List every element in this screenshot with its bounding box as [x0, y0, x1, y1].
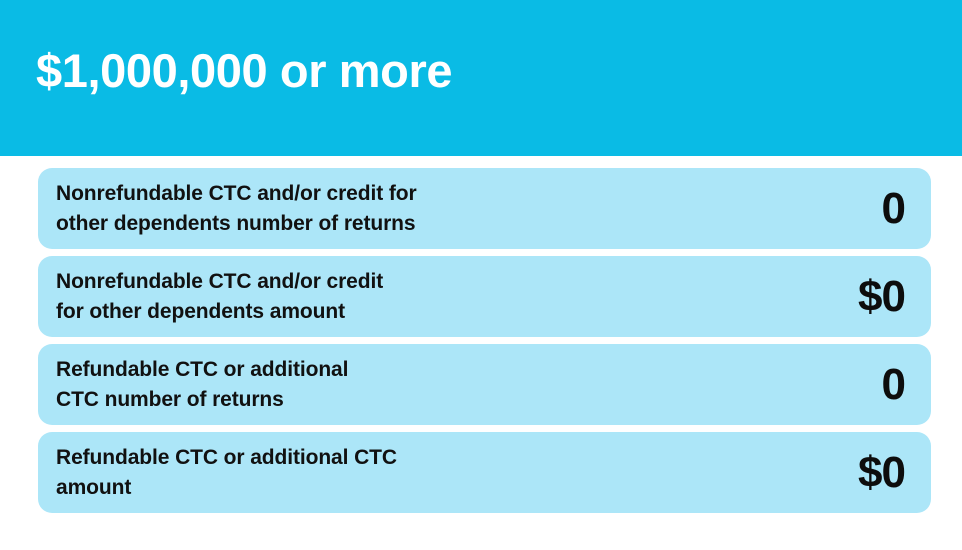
slide-root: $1,000,000 or more Nonrefundable CTC and…: [0, 0, 962, 550]
stat-card-label: Refundable CTC or additional CTC amount: [56, 443, 858, 503]
stat-card: Refundable CTC or additional CTC amount …: [38, 432, 931, 513]
stat-card: Nonrefundable CTC and/or credit for othe…: [38, 168, 931, 249]
stat-card-label: Refundable CTC or additional CTC number …: [56, 355, 882, 415]
stat-card-value: $0: [858, 275, 905, 319]
stat-card-value: 0: [882, 187, 905, 231]
stat-card: Nonrefundable CTC and/or credit for othe…: [38, 256, 931, 337]
page-title: $1,000,000 or more: [36, 46, 452, 95]
stat-card-value: 0: [882, 363, 905, 407]
stat-card-label: Nonrefundable CTC and/or credit for othe…: [56, 179, 882, 239]
stat-card-label: Nonrefundable CTC and/or credit for othe…: [56, 267, 858, 327]
stat-card: Refundable CTC or additional CTC number …: [38, 344, 931, 425]
stat-card-value: $0: [858, 451, 905, 495]
stat-card-list: Nonrefundable CTC and/or credit for othe…: [38, 168, 931, 513]
header-banner: $1,000,000 or more: [0, 0, 962, 156]
